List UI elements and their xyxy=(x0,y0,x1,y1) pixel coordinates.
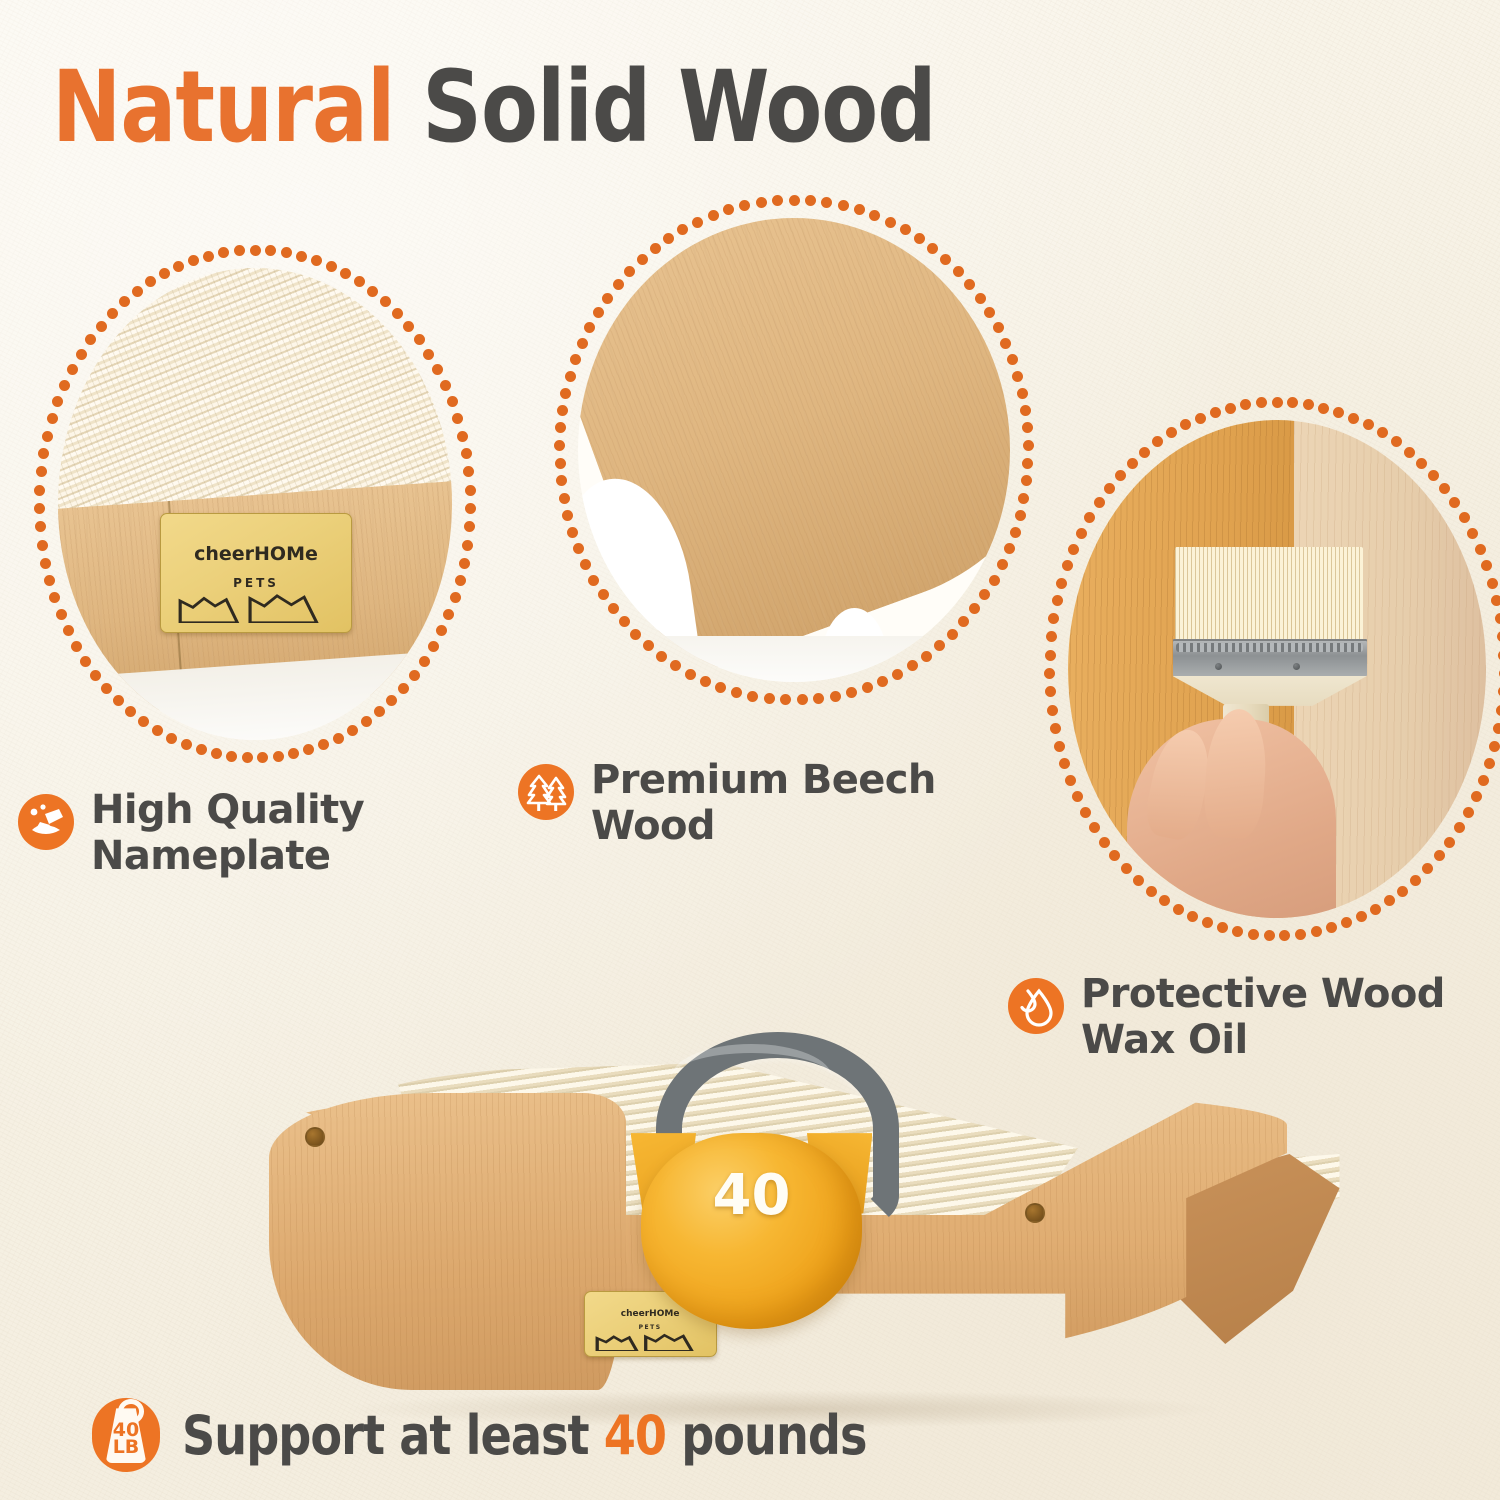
kettlebell-weight-value: 40 xyxy=(626,1163,878,1228)
brush-ferrule xyxy=(1173,639,1367,676)
page-title: Natural Solid Wood xyxy=(52,56,936,160)
product-photo-cat-scratcher: cheerHOMe PETS 40 xyxy=(258,1040,1308,1420)
nameplate-brand-text: cheerHOMe xyxy=(161,543,350,565)
title-dark-part: Solid Wood xyxy=(422,50,935,165)
brush-bristles xyxy=(1175,547,1363,642)
floor-surface xyxy=(578,636,1010,682)
feature-label: Premium Beech Wood xyxy=(591,758,936,849)
detail-circle-nameplate: cheerHOMe PETS xyxy=(36,246,474,762)
brand-nameplate: cheerHOMe PETS xyxy=(160,513,351,633)
caption-text: Support at least 40 pounds xyxy=(182,1404,866,1467)
trees-icon xyxy=(518,764,574,820)
wax-oil-photo xyxy=(1068,420,1486,918)
beech-wood-photo xyxy=(578,218,1010,682)
kettlebell-40lb: 40 xyxy=(626,1032,878,1328)
caption-highlight: 40 xyxy=(604,1404,666,1467)
cat-ears-outline-icon xyxy=(177,592,336,623)
water-drop-icon xyxy=(1008,978,1064,1034)
nameplate-sub-text: PETS xyxy=(161,576,350,590)
weight-40lb-icon: 40 LB xyxy=(92,1398,160,1472)
title-orange-part: Natural xyxy=(52,50,394,165)
nameplate-stamp-icon xyxy=(18,794,74,850)
feature-high-quality-nameplate: High Quality Nameplate xyxy=(18,788,364,879)
support-capacity-caption: 40 LB Support at least 40 pounds xyxy=(92,1398,903,1472)
feature-premium-beech-wood: Premium Beech Wood xyxy=(518,758,936,849)
weight-icon-line2: LB xyxy=(92,1436,160,1458)
mounting-screw xyxy=(1025,1203,1045,1223)
feature-label: High Quality Nameplate xyxy=(91,788,364,879)
detail-circle-wax-oil xyxy=(1046,398,1500,940)
detail-circle-beech-wood xyxy=(556,196,1032,704)
nameplate-photo: cheerHOMe PETS xyxy=(58,268,452,740)
caption-text-after: pounds xyxy=(666,1404,866,1467)
kettlebell-handle-highlight xyxy=(671,1044,832,1112)
cat-ears-outline-icon xyxy=(595,1333,705,1351)
caption-text-before: Support at least xyxy=(182,1404,604,1467)
